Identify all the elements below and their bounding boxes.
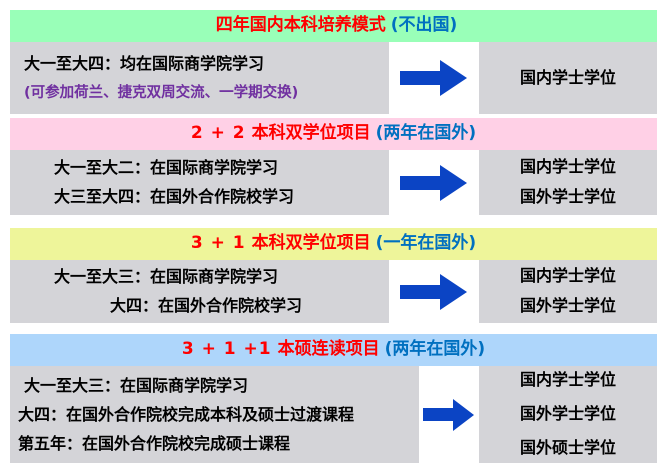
program-body: 大一至大三：在国际商学院学习 大四：在国外合作院校完成本科及硕士过渡课程 第五年… [10, 366, 657, 463]
degree-outcome-box: 国内学士学位 [479, 42, 657, 114]
program-name: 本硕连读项目 [278, 339, 380, 359]
degree-outcome-box: 国内学士学位 国外学士学位 [479, 150, 657, 215]
pathway-diagram: 四年国内本科培养模式(不出国) 大一至大四：均在国际商学院学习 (可参加荷兰、捷… [0, 0, 664, 473]
arrow-container [389, 150, 479, 215]
stage-line: 大一至大二：在国际商学院学习 [10, 158, 389, 178]
degree-line: 国内学士学位 [520, 370, 616, 391]
stage-line: 大四：在国外合作院校学习 [10, 296, 389, 316]
stage-note-line: (可参加荷兰、捷克双周交流、一学期交换) [16, 84, 389, 102]
program-banner: 3 + 1 +1本硕连读项目(两年在国外) [10, 334, 657, 366]
degree-line: 国内学士学位 [520, 157, 616, 178]
program-body: 大一至大二：在国际商学院学习 大三至大四：在国外合作院校学习 国内学士学位 国外… [10, 150, 657, 215]
degree-line: 国外学士学位 [520, 404, 616, 425]
program-note: (一年在国外) [376, 233, 477, 253]
program-block-two-plus-two: 2 + 2本科双学位项目(两年在国外) 大一至大二：在国际商学院学习 大三至大四… [10, 118, 657, 215]
study-stages-box: 大一至大四：均在国际商学院学习 (可参加荷兰、捷克双周交流、一学期交换) [10, 42, 389, 114]
program-name: 四年国内本科培养模式 [216, 15, 386, 35]
degree-line: 国外硕士学位 [520, 438, 616, 459]
program-banner: 2 + 2本科双学位项目(两年在国外) [10, 118, 657, 150]
right-arrow-icon [400, 59, 468, 97]
program-code-italic-suffix: 1 [259, 339, 272, 359]
degree-line: 国内学士学位 [520, 266, 616, 287]
program-name: 本科双学位项目 [252, 233, 371, 253]
stage-line: 大一至大四：均在国际商学院学习 [16, 54, 389, 74]
study-stages-box: 大一至大三：在国际商学院学习 大四：在国外合作院校学习 [10, 260, 389, 323]
degree-line: 国外学士学位 [520, 296, 616, 317]
program-note: (两年在国外) [376, 123, 477, 143]
degree-outcome-box: 国内学士学位 国外学士学位 [479, 260, 657, 323]
arrow-container [389, 260, 479, 323]
right-arrow-icon [423, 398, 475, 432]
program-note: (不出国) [391, 15, 458, 35]
program-block-three-plus-one: 3 + 1本科双学位项目(一年在国外) 大一至大三：在国际商学院学习 大四：在国… [10, 228, 657, 323]
study-stages-box: 大一至大二：在国际商学院学习 大三至大四：在国外合作院校学习 [10, 150, 389, 215]
program-code: 3 + 1 [191, 233, 246, 253]
program-banner: 四年国内本科培养模式(不出国) [10, 10, 657, 42]
stage-line: 大一至大三：在国际商学院学习 [10, 267, 389, 287]
program-block-four-year-domestic: 四年国内本科培养模式(不出国) 大一至大四：均在国际商学院学习 (可参加荷兰、捷… [10, 10, 657, 114]
stage-line: 第五年：在国外合作院校完成硕士课程 [10, 434, 419, 454]
program-code: 2 + 2 [191, 123, 246, 143]
degree-line: 国内学士学位 [520, 68, 616, 89]
degree-line: 国外学士学位 [520, 187, 616, 208]
study-stages-box: 大一至大三：在国际商学院学习 大四：在国外合作院校完成本科及硕士过渡课程 第五年… [10, 366, 419, 463]
program-code: 3 + 1 + [182, 339, 259, 359]
stage-line: 大四：在国外合作院校完成本科及硕士过渡课程 [10, 405, 419, 425]
right-arrow-icon [400, 164, 468, 202]
degree-outcome-box: 国内学士学位 国外学士学位 国外硕士学位 [479, 366, 657, 463]
arrow-container [419, 366, 479, 463]
arrow-container [389, 42, 479, 114]
stage-line: 大三至大四：在国外合作院校学习 [10, 187, 389, 207]
stage-line: 大一至大三：在国际商学院学习 [10, 376, 419, 396]
program-banner: 3 + 1本科双学位项目(一年在国外) [10, 228, 657, 260]
program-name: 本科双学位项目 [252, 123, 371, 143]
program-note: (两年在国外) [385, 339, 486, 359]
program-body: 大一至大三：在国际商学院学习 大四：在国外合作院校学习 国内学士学位 国外学士学… [10, 260, 657, 323]
program-block-three-plus-one-plus-one: 3 + 1 +1本硕连读项目(两年在国外) 大一至大三：在国际商学院学习 大四：… [10, 334, 657, 463]
program-body: 大一至大四：均在国际商学院学习 (可参加荷兰、捷克双周交流、一学期交换) 国内学… [10, 42, 657, 114]
right-arrow-icon [400, 273, 468, 311]
